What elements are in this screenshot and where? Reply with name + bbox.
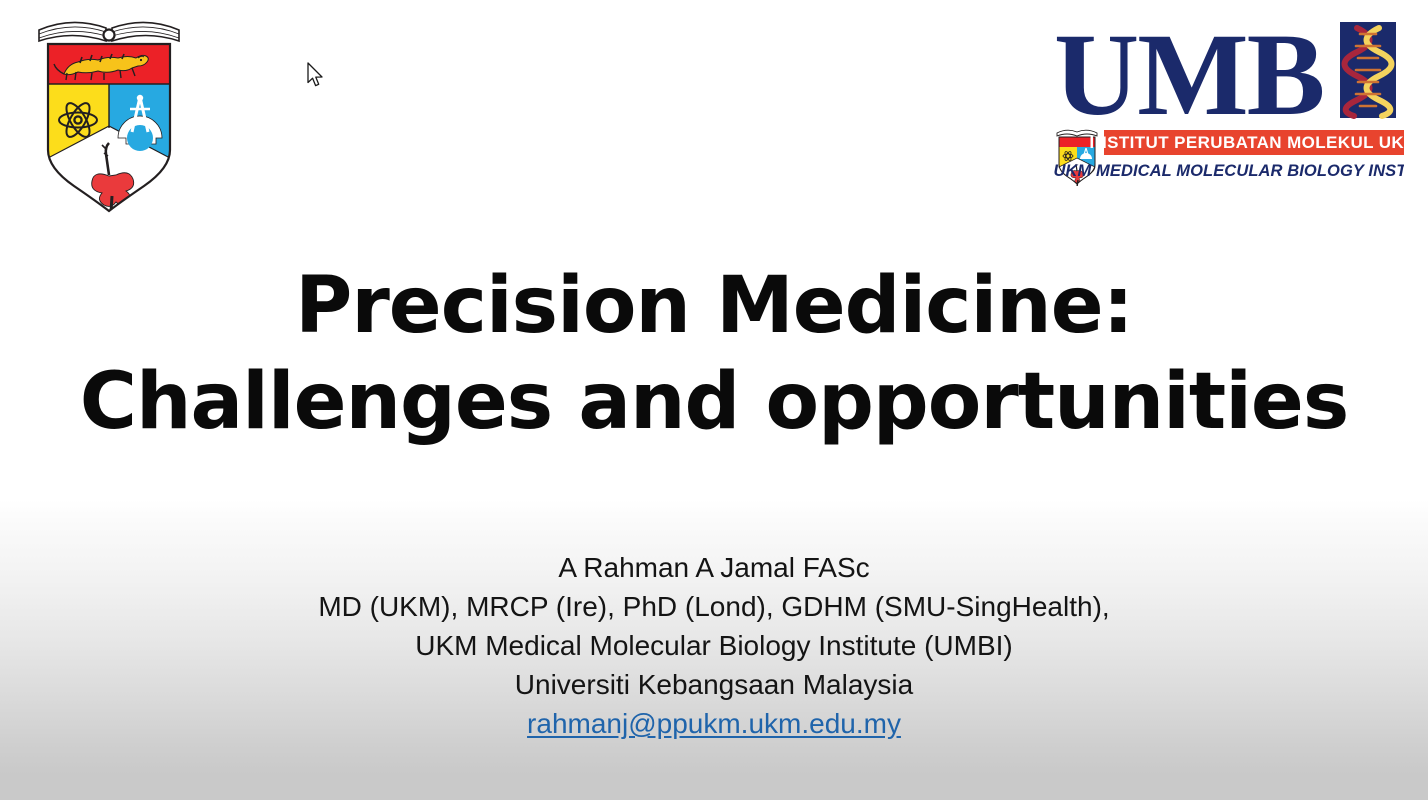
title-line-2: Challenges and opportunities	[0, 354, 1428, 450]
umbi-tagline-text: UKM MEDICAL MOLECULAR BIOLOGY INSTITUTE	[1053, 162, 1404, 180]
umbi-logo: UMB	[1052, 14, 1404, 186]
slide-title: Precision Medicine: Challenges and oppor…	[0, 258, 1428, 450]
author-email-link[interactable]: rahmanj@ppukm.ukm.edu.my	[0, 704, 1428, 743]
presentation-slide: UMB	[0, 0, 1428, 800]
author-university: Universiti Kebangsaan Malaysia	[0, 665, 1428, 704]
open-book-icon	[39, 22, 179, 41]
dna-helix-letter-i	[1340, 22, 1396, 118]
author-qualifications: MD (UKM), MRCP (Ire), PhD (Lond), GDHM (…	[0, 587, 1428, 626]
ukm-coat-of-arms-logo	[34, 8, 184, 213]
title-line-1: Precision Medicine:	[0, 258, 1428, 354]
umbi-wordmark: UMB	[1054, 14, 1323, 140]
slide-subtitle: A Rahman A Jamal FASc MD (UKM), MRCP (Ir…	[0, 548, 1428, 743]
author-institute: UKM Medical Molecular Biology Institute …	[0, 626, 1428, 665]
umbi-banner-text: INSTITUT PERUBATAN MOLEKUL UKM	[1089, 133, 1404, 152]
mouse-cursor-arrow-icon	[306, 62, 326, 90]
author-name: A Rahman A Jamal FASc	[0, 548, 1428, 587]
